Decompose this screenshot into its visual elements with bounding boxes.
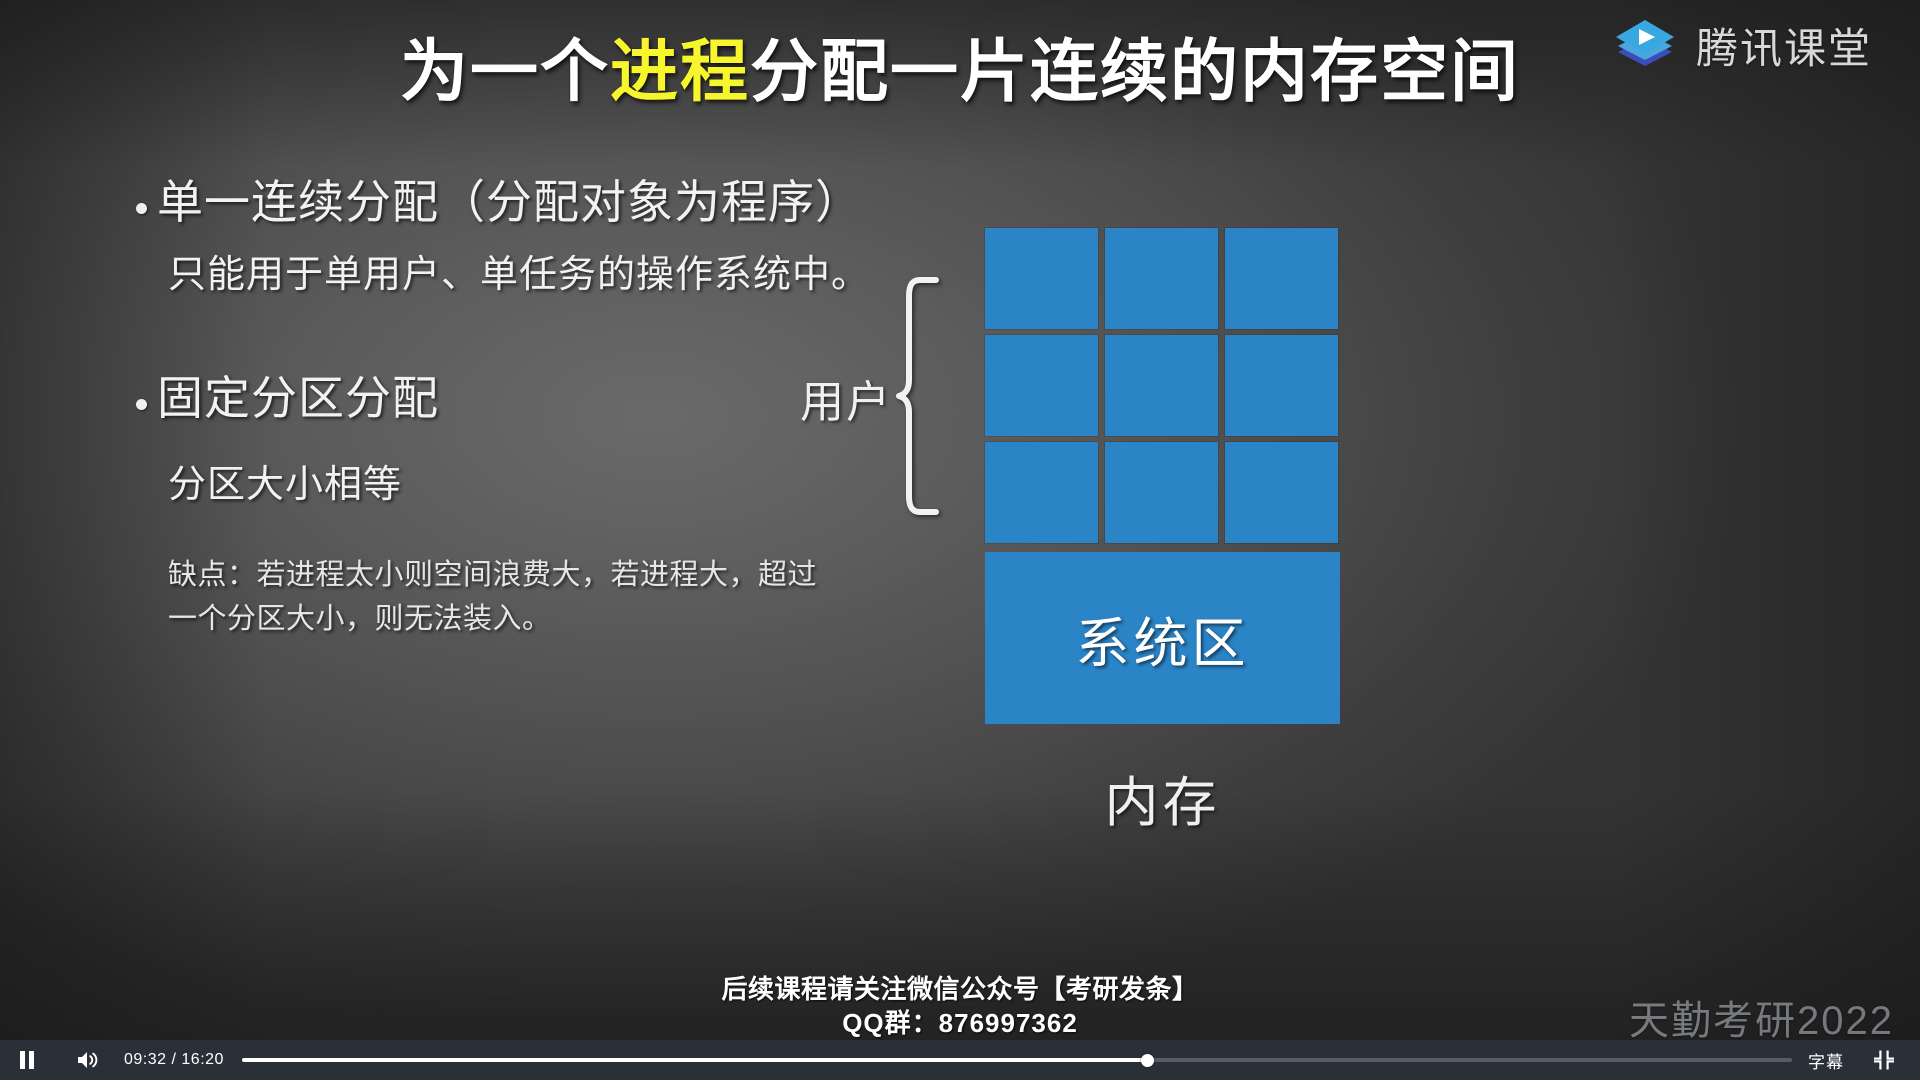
play-diamond-icon [1608,8,1682,82]
title-highlight: 进程 [610,34,750,110]
progress-track[interactable] [242,1058,1792,1062]
bullet-dot-icon [136,399,147,410]
partition-cell [985,442,1098,543]
watermark-text: 天勤考研2022 [1629,988,1894,1046]
system-area-block: 系统区 [985,552,1340,724]
bullet-dot-icon [136,203,147,214]
total-time: 16:20 [181,1051,224,1068]
progress-bar[interactable] [242,1040,1792,1080]
partition-cell [1105,442,1218,543]
bullet-item-1: 单一连续分配（分配对象为程序） [136,175,1136,229]
bullet-1-label: 单一连续分配（分配对象为程序） [157,175,862,229]
user-partition-grid [985,228,1340,543]
pause-icon [19,1051,35,1069]
brand-name: 腾讯课堂 [1696,15,1872,76]
time-display: 09:32 / 16:20 [124,1051,224,1069]
curly-brace-icon [896,276,940,521]
user-brace-group: 用户 [800,278,980,518]
title-suffix: 分配一片连续的内存空间 [750,34,1520,110]
user-region-label: 用户 [800,366,892,430]
partition-cell [1225,228,1338,329]
bullet-2-label: 固定分区分配 [157,371,439,425]
volume-button[interactable] [60,1040,116,1080]
partition-cell [1225,335,1338,436]
partition-cell [1105,228,1218,329]
time-separator: / [172,1051,177,1068]
title-prefix: 为一个 [400,34,610,110]
pause-button[interactable] [0,1040,54,1080]
fullscreen-button[interactable] [1860,1040,1908,1080]
brand-logo: 腾讯课堂 [1608,8,1872,82]
video-player-stage: 腾讯课堂 为一个进程分配一片连续的内存空间 单一连续分配（分配对象为程序） 只能… [0,0,1920,1080]
current-time: 09:32 [124,1051,167,1068]
progress-filled [242,1058,1147,1062]
memory-label: 内存 [985,758,1340,837]
partition-cell [985,228,1098,329]
subtitle-button[interactable]: 字幕 [1808,1048,1844,1073]
slide-canvas: 腾讯课堂 为一个进程分配一片连续的内存空间 单一连续分配（分配对象为程序） 只能… [0,0,1920,1040]
exit-fullscreen-icon [1874,1050,1894,1070]
volume-on-icon [77,1051,99,1069]
partition-cell [1105,335,1218,436]
memory-diagram: 系统区 内存 [985,228,1340,837]
player-control-bar: 09:32 / 16:20 字幕 [0,1040,1920,1080]
partition-cell [1225,442,1338,543]
progress-thumb[interactable] [1141,1054,1154,1067]
partition-cell [985,335,1098,436]
